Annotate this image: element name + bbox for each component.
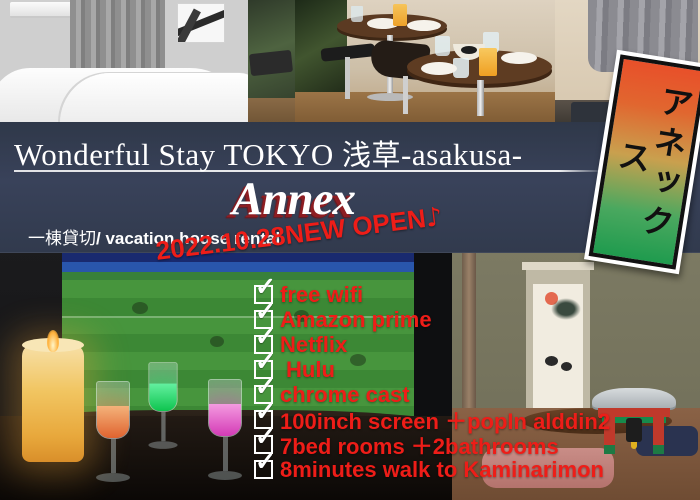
dining-tables-photo [295, 0, 555, 126]
feature-label: 8minutes walk to Kaminarimon [280, 457, 604, 483]
led-champagne-glass-pink [208, 379, 242, 480]
drinking-glass [351, 6, 363, 22]
wood-floor [295, 92, 555, 126]
gate-lantern [626, 418, 642, 442]
player-blob [210, 336, 224, 347]
feature-row: Netflix [254, 332, 610, 357]
player-blob [132, 302, 148, 314]
promo-poster: Wonderful Stay TOKYO 浅草-asakusa- Annex 一… [0, 0, 700, 500]
top-photo-strip [0, 0, 700, 126]
stool-leg [345, 57, 350, 99]
feature-checklist: free wifiAmazon primeNetflixHuluchrome c… [254, 282, 610, 482]
led-champagne-glass-orange [96, 381, 130, 482]
plate [407, 20, 441, 31]
subtitle-japanese: 一棟貸切 [28, 229, 96, 249]
led-candle [22, 344, 84, 462]
feature-label: free wifi [280, 282, 363, 308]
feature-row: free wifi [254, 282, 610, 307]
candle-flame [47, 330, 59, 352]
bedroom-photo [0, 0, 295, 126]
chair-leg [403, 76, 408, 114]
gate-base-right [653, 445, 664, 454]
table-leg [477, 80, 484, 116]
title-text-japanese: 浅草 [342, 138, 401, 172]
feature-label: Netflix [280, 332, 347, 358]
title-text-lead: Wonderful Stay TOKYO [14, 137, 342, 172]
feature-label: Amazon prime [280, 307, 432, 333]
led-champagne-glass-green [148, 362, 177, 449]
checkmark-icon [254, 460, 273, 479]
sign-text: アネックス [600, 60, 696, 264]
chair [249, 50, 293, 76]
page-title: Wonderful Stay TOKYO 浅草-asakusa- [14, 132, 614, 174]
music-note-icon: ♪ [424, 202, 444, 234]
wall-art [177, 3, 225, 43]
feature-row: 8minutes walk to Kaminarimon [254, 457, 610, 482]
feature-row: 7bed rooms ＋2bathrooms [254, 432, 610, 457]
feature-label: Hulu [280, 357, 335, 383]
title-text-tail: -asakusa- [401, 137, 523, 172]
plate [421, 62, 457, 75]
feature-row: Amazon prime [254, 307, 610, 332]
feature-row: Hulu [254, 357, 610, 382]
plate [501, 52, 537, 64]
bed-mattress-second [60, 73, 260, 126]
scroll-rod-top [522, 262, 594, 270]
juice-glass [393, 4, 407, 26]
juice-glass [479, 48, 497, 76]
drinking-glass [435, 36, 450, 56]
